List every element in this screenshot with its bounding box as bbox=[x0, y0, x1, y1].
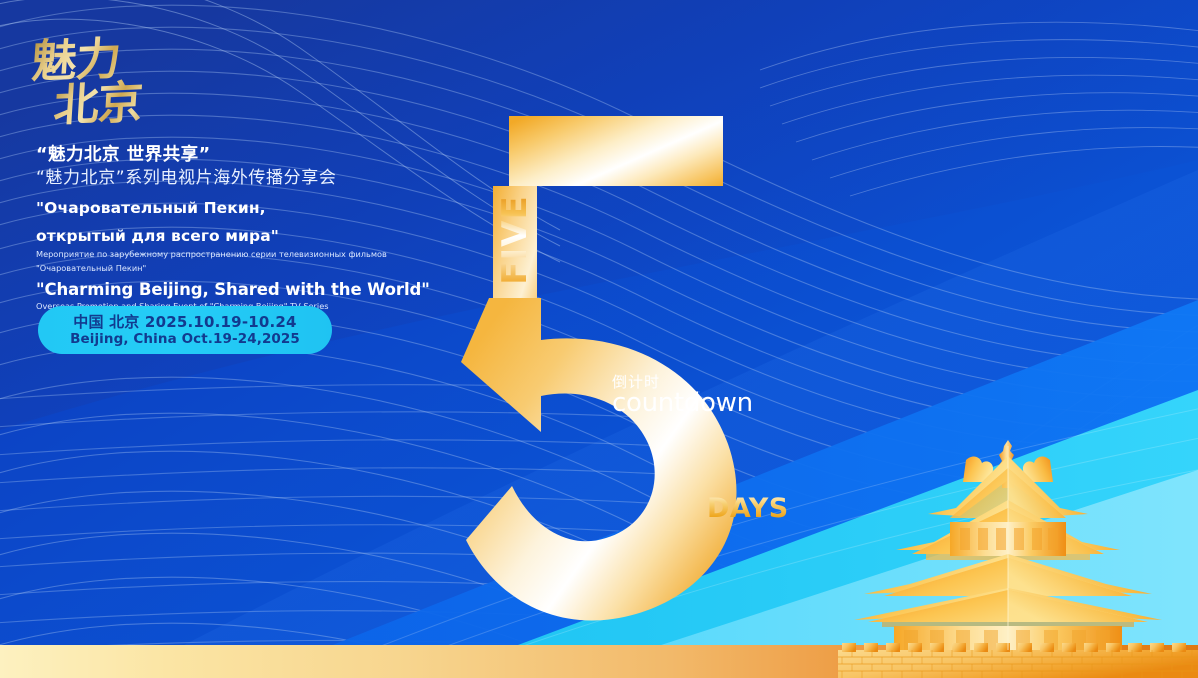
logo-line-2: 北京 bbox=[52, 78, 153, 130]
headline-english-main: "Charming Beijing, Shared with the World… bbox=[36, 280, 456, 300]
charming-beijing-logo: 魅力 北京 bbox=[32, 36, 152, 138]
headline-chinese-sub: “魅力北京”系列电视片海外传播分享会 bbox=[36, 166, 456, 190]
headline-russian-sub-line1: Мероприятие по зарубежному распространен… bbox=[36, 249, 456, 260]
countdown-poster: 魅力 北京 “魅力北京 世界共享” “魅力北京”系列电视片海外传播分享会 "Оч… bbox=[0, 0, 1198, 678]
headline-russian-main-line2: открытый для всего мира" bbox=[36, 227, 456, 246]
date-location-badge: 中国 北京 2025.10.19-10.24 Beijing, China Oc… bbox=[38, 306, 332, 354]
forbidden-city-corner-tower bbox=[838, 438, 1198, 678]
countdown-unit-days: DAYS bbox=[707, 493, 789, 524]
headline-russian-main-line1: "Очаровательный Пекин, bbox=[36, 199, 456, 218]
headline-russian-sub-line2: "Очаровательный Пекин" bbox=[36, 263, 456, 274]
date-chinese: 中国 北京 2025.10.19-10.24 bbox=[73, 314, 296, 331]
countdown-label-english: countdown bbox=[612, 389, 753, 417]
headline-block: “魅力北京 世界共享” “魅力北京”系列电视片海外传播分享会 "Очароват… bbox=[36, 144, 456, 312]
headline-chinese-main: “魅力北京 世界共享” bbox=[36, 144, 456, 166]
date-english: Beijing, China Oct.19-24,2025 bbox=[70, 331, 300, 347]
countdown-five-word: FIVE bbox=[494, 186, 536, 294]
five-word-text: FIVE bbox=[495, 195, 535, 284]
countdown-label: 倒计时 countdown bbox=[612, 374, 753, 417]
